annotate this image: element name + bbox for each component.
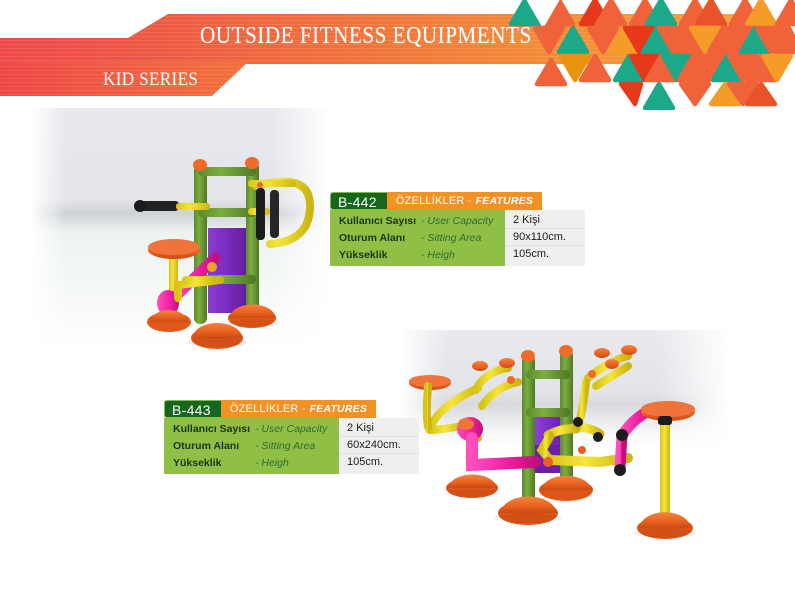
- spec-label-en: - Heigh: [255, 457, 333, 469]
- spec-label-column: Kullanıcı Sayısı - User Capacity Oturum …: [164, 418, 339, 474]
- fitness-equipment-b442-photo: [120, 150, 350, 350]
- spec-label-tr: Oturum Alanı: [339, 232, 421, 244]
- spec-label-tr: Kullanıcı Sayısı: [173, 423, 255, 435]
- spec-label-en: - User Capacity: [255, 423, 333, 435]
- spec-body: Kullanıcı Sayısı - User Capacity Oturum …: [164, 418, 419, 474]
- spec-table-shadow: [368, 270, 546, 286]
- spec-row: Oturum Alanı - Sitting Area: [164, 437, 339, 454]
- spec-body: Kullanıcı Sayısı - User Capacity Oturum …: [330, 210, 585, 266]
- spec-label-en: - Sitting Area: [421, 232, 499, 244]
- spec-value: 90x110cm.: [505, 229, 585, 246]
- mosaic-svg: [485, 0, 795, 110]
- spec-row: Kullanıcı Sayısı - User Capacity: [164, 420, 339, 437]
- spec-label-column: Kullanıcı Sayısı - User Capacity Oturum …: [330, 210, 505, 266]
- spec-table-b442: B-442 ÖZELLİKLER - FEATURES Kullanıcı Sa…: [330, 192, 585, 266]
- page-header: OUTSIDE FITNESS EQUIPMENTS KID SERIES: [0, 0, 795, 110]
- product-code-badge: B-442: [330, 192, 387, 210]
- spec-value: 2 Kişi: [505, 212, 585, 229]
- spec-label-tr: Yükseklik: [339, 249, 421, 261]
- spec-value: 105cm.: [339, 454, 419, 471]
- spec-header-title: ÖZELLİKLER - FEATURES: [221, 400, 376, 418]
- spec-header-row: B-443 ÖZELLİKLER - FEATURES: [164, 400, 419, 418]
- spec-header-label-tr: ÖZELLİKLER -: [396, 192, 472, 210]
- spec-header-label-tr: ÖZELLİKLER -: [230, 400, 306, 418]
- fitness-equipment-b443-photo: [400, 330, 740, 560]
- spec-row: Yükseklik - Heigh: [330, 246, 505, 263]
- spec-row: Oturum Alanı - Sitting Area: [330, 229, 505, 246]
- spec-header-row: B-442 ÖZELLİKLER - FEATURES: [330, 192, 585, 210]
- spec-header-label-en: FEATURES: [310, 400, 367, 418]
- page-title: OUTSIDE FITNESS EQUIPMENTS: [200, 23, 532, 50]
- product-code-badge: B-443: [164, 400, 221, 418]
- spec-header-title: ÖZELLİKLER - FEATURES: [387, 192, 542, 210]
- spec-label-tr: Oturum Alanı: [173, 440, 255, 452]
- spec-value-column: 2 Kişi 60x240cm. 105cm.: [339, 418, 419, 474]
- spec-label-tr: Kullanıcı Sayısı: [339, 215, 421, 227]
- page-subtitle: KID SERIES: [103, 69, 198, 91]
- spec-header-label-en: FEATURES: [476, 192, 533, 210]
- spec-value: 105cm.: [505, 246, 585, 263]
- triangle-mosaic-decoration: [485, 0, 795, 110]
- spec-value: 60x240cm.: [339, 437, 419, 454]
- spec-value-column: 2 Kişi 90x110cm. 105cm.: [505, 210, 585, 266]
- spec-label-en: - Heigh: [421, 249, 499, 261]
- spec-row: Yükseklik - Heigh: [164, 454, 339, 471]
- spec-table-b443: B-443 ÖZELLİKLER - FEATURES Kullanıcı Sa…: [164, 400, 419, 474]
- catalog-page: OUTSIDE FITNESS EQUIPMENTS KID SERIES: [0, 0, 795, 603]
- spec-label-en: - Sitting Area: [255, 440, 333, 452]
- spec-row: Kullanıcı Sayısı - User Capacity: [330, 212, 505, 229]
- spec-label-tr: Yükseklik: [173, 457, 255, 469]
- spec-label-en: - User Capacity: [421, 215, 499, 227]
- spec-value: 2 Kişi: [339, 420, 419, 437]
